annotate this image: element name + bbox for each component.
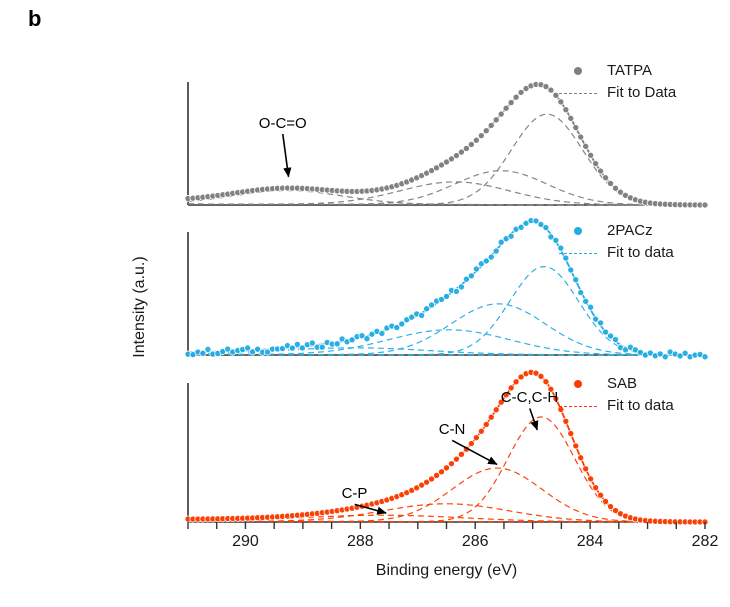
legend-dashed-line-icon — [555, 93, 601, 94]
legend-series-label: TATPA — [601, 60, 652, 82]
x-tick-label: 288 — [330, 533, 390, 551]
legend-fit-label: Fit to data — [601, 395, 674, 417]
legend-row-fit: Fit to data — [555, 395, 674, 417]
legend-series-label: SAB — [601, 373, 637, 395]
legend-marker-icon — [555, 227, 601, 235]
annotation-arrow — [530, 408, 537, 429]
legend-row-fit: Fit to data — [555, 242, 674, 264]
legend-dashed-line-icon — [555, 406, 601, 407]
legend-row-series: 2PACz — [555, 220, 674, 242]
fit-component-0 — [188, 267, 705, 355]
annotation-label: C-N — [439, 421, 466, 438]
x-axis-ticks — [188, 522, 705, 529]
annotation-label: O-C=O — [259, 115, 307, 132]
legend-marker-icon — [555, 380, 601, 388]
legend-row-series: SAB — [555, 373, 674, 395]
x-tick-label: 284 — [560, 533, 620, 551]
legend-2pacz: 2PACz Fit to data — [555, 220, 674, 264]
legend-fit-label: Fit to data — [601, 242, 674, 264]
annotation-label: C-C,C-H — [501, 389, 559, 406]
legend-marker-icon — [555, 67, 601, 75]
legend-sab: SAB Fit to data — [555, 373, 674, 417]
x-tick-label: 290 — [215, 533, 275, 551]
legend-row-series: TATPA — [555, 60, 676, 82]
annotation-arrow — [283, 134, 289, 177]
xps-figure: b Intensity (a.u.) Binding energy (eV) T… — [0, 0, 730, 607]
legend-series-label: 2PACz — [601, 220, 653, 242]
annotation-label: C-P — [342, 485, 368, 502]
legend-fit-label: Fit to Data — [601, 82, 676, 104]
x-tick-label: 282 — [675, 533, 730, 551]
x-tick-label: 286 — [445, 533, 505, 551]
legend-dashed-line-icon — [555, 253, 601, 254]
legend-tatpa: TATPA Fit to Data — [555, 60, 676, 104]
legend-row-fit: Fit to Data — [555, 82, 676, 104]
